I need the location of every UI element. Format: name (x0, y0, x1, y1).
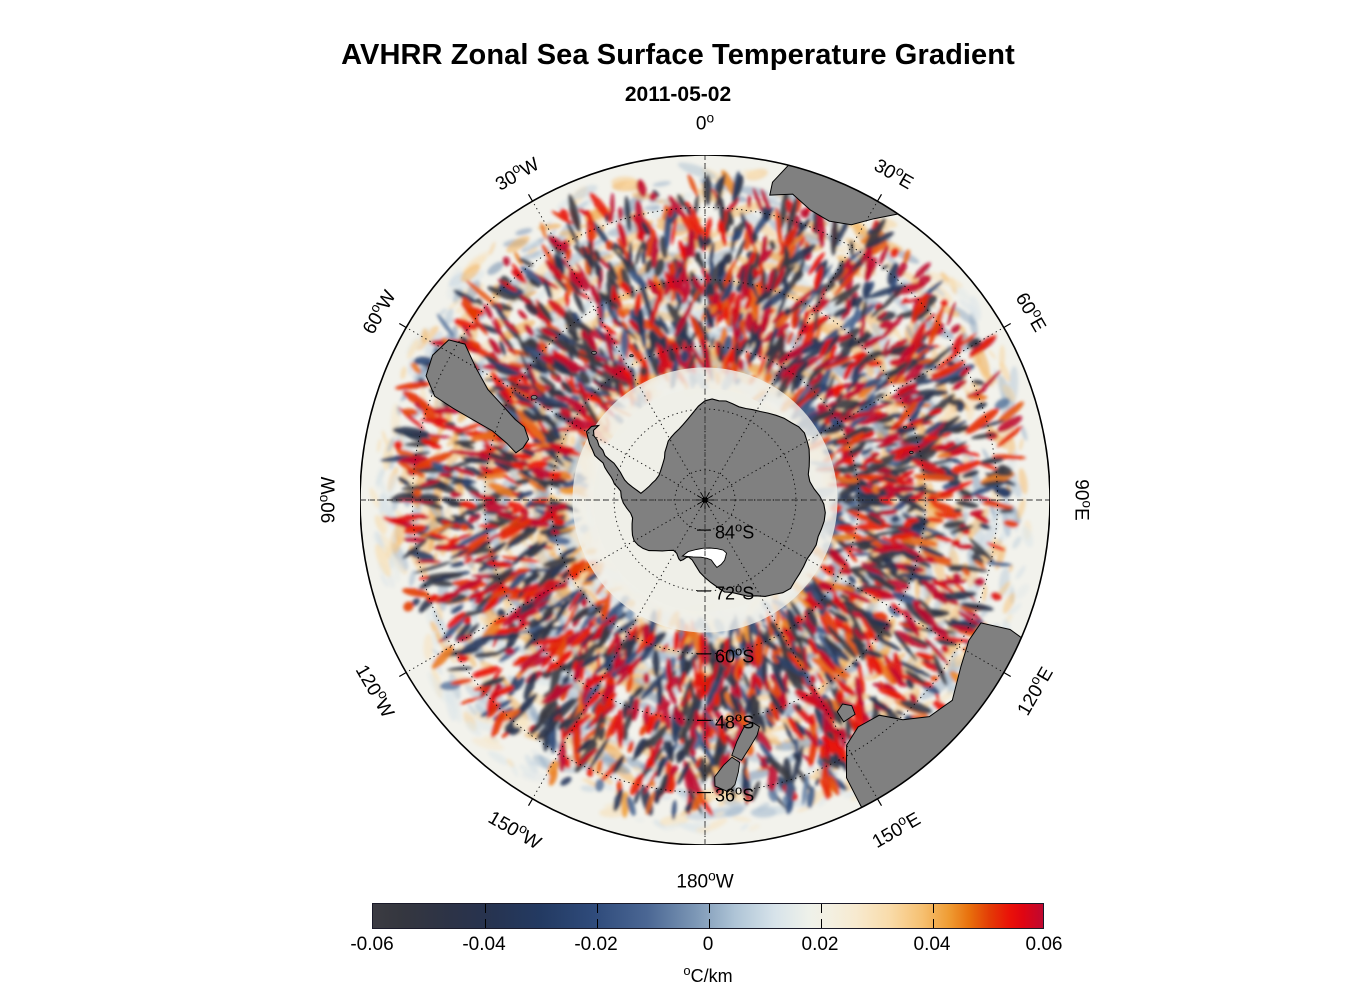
colorbar-gradient (372, 903, 1044, 929)
page-title: AVHRR Zonal Sea Surface Temperature Grad… (0, 38, 1356, 72)
colorbar: -0.06-0.04-0.0200.020.040.06 oC/km (372, 903, 1044, 960)
longitude-tick (399, 673, 406, 677)
polar-map: 0o30oE60oE90oE120oE150oE180oW150oW120oW9… (360, 155, 1050, 845)
colorbar-tick (597, 919, 598, 928)
colorbar-tick-label: 0.06 (1026, 934, 1063, 956)
colorbar-tick (597, 904, 598, 913)
colorbar-tick-labels: -0.06-0.04-0.0200.020.040.06 (372, 934, 1044, 960)
colorbar-tick (485, 919, 486, 928)
colorbar-tick-label: -0.06 (350, 934, 393, 956)
colorbar-tick (933, 904, 934, 913)
figure-root: AVHRR Zonal Sea Surface Temperature Grad… (0, 0, 1356, 1000)
longitude-tick (878, 799, 882, 806)
colorbar-tick (485, 904, 486, 913)
longitude-label: 90oE (1071, 479, 1096, 520)
longitude-tick (529, 194, 533, 201)
latitude-label: 60oS (715, 641, 754, 666)
latitude-label: 48oS (715, 708, 754, 733)
latitude-label: 36oS (715, 780, 754, 805)
colorbar-unit-label: oC/km (372, 963, 1044, 987)
colorbar-tick-label: -0.04 (462, 934, 505, 956)
small-island (910, 451, 914, 453)
colorbar-tick (821, 904, 822, 913)
latitude-label: 72oS (715, 578, 754, 603)
title-block: AVHRR Zonal Sea Surface Temperature Grad… (0, 38, 1356, 108)
longitude-label: 180oW (676, 866, 733, 891)
small-island (904, 426, 907, 428)
small-island (531, 395, 537, 399)
latitude-label: 84oS (715, 518, 754, 543)
figure-subtitle-date: 2011-05-02 (0, 82, 1356, 108)
longitude-tick (529, 799, 533, 806)
longitude-tick (878, 194, 882, 201)
polar-map-canvas (360, 155, 1050, 845)
longitude-tick (399, 324, 406, 328)
colorbar-tick-label: 0.04 (914, 934, 951, 956)
longitude-label: 90oW (313, 477, 338, 524)
small-island (592, 351, 597, 354)
longitude-label: 0o (696, 108, 714, 133)
colorbar-tick-label: 0 (703, 934, 714, 956)
small-island (630, 355, 634, 357)
colorbar-tick (709, 904, 710, 913)
colorbar-tick-label: 0.02 (802, 934, 839, 956)
longitude-tick (1004, 324, 1011, 328)
colorbar-tick-label: -0.02 (574, 934, 617, 956)
colorbar-tick (933, 919, 934, 928)
colorbar-tick (821, 919, 822, 928)
longitude-tick (1004, 673, 1011, 677)
colorbar-tick (709, 919, 710, 928)
